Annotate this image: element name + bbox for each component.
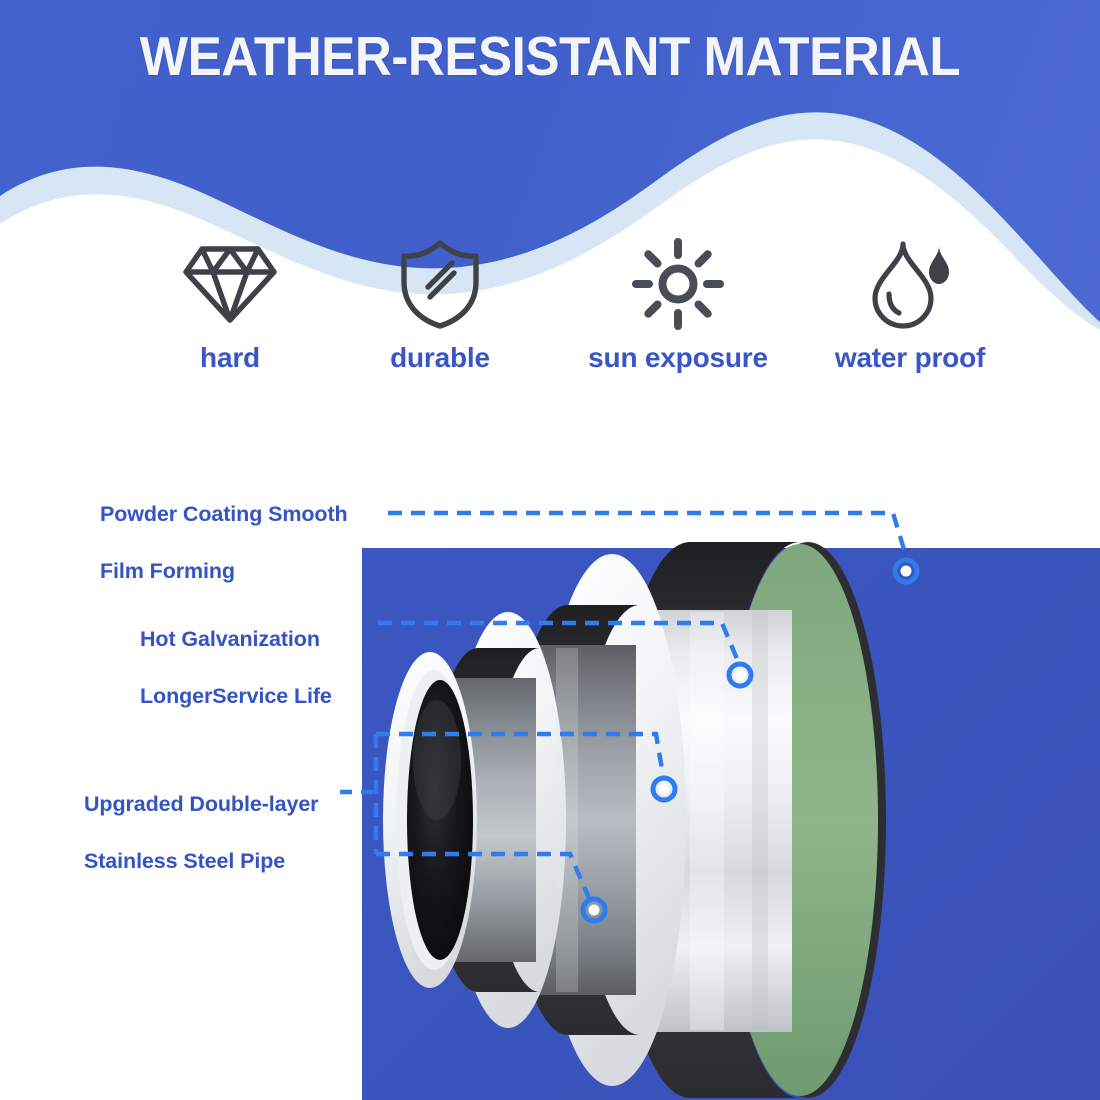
callout-label-double-layer-pipe: Upgraded Double-layer Stainless Steel Pi… [84,762,318,904]
connector-line-powder-coating [388,513,906,556]
endpoint-marker-double-layer-upper [653,778,675,800]
endpoint-marker-powder-coating [895,560,917,582]
callout-line-2: LongerService Life [140,682,332,710]
callout-line-2: Stainless Steel Pipe [84,847,318,875]
connector-line-double-layer-lower [376,854,592,905]
endpoint-marker-double-layer-lower [583,899,605,921]
callout-line-1: Upgraded Double-layer [84,790,318,818]
callout-line-1: Powder Coating Smooth [100,500,348,528]
callout-label-powder-coating: Powder Coating Smooth Film Forming [100,472,348,614]
callout-line-2: Film Forming [100,557,348,585]
connector-line-double-layer-upper [376,734,663,775]
connector-endpoint-markers [583,560,917,921]
endpoint-marker-hot-galvanization [729,664,751,686]
product-infographic-poster: WEATHER-RESISTANT MATERIAL hard [0,0,1100,1100]
callout-label-hot-galvanization: Hot Galvanization LongerService Life [140,597,332,739]
callout-line-1: Hot Galvanization [140,625,332,653]
connector-line-hot-galvanization [378,623,740,666]
